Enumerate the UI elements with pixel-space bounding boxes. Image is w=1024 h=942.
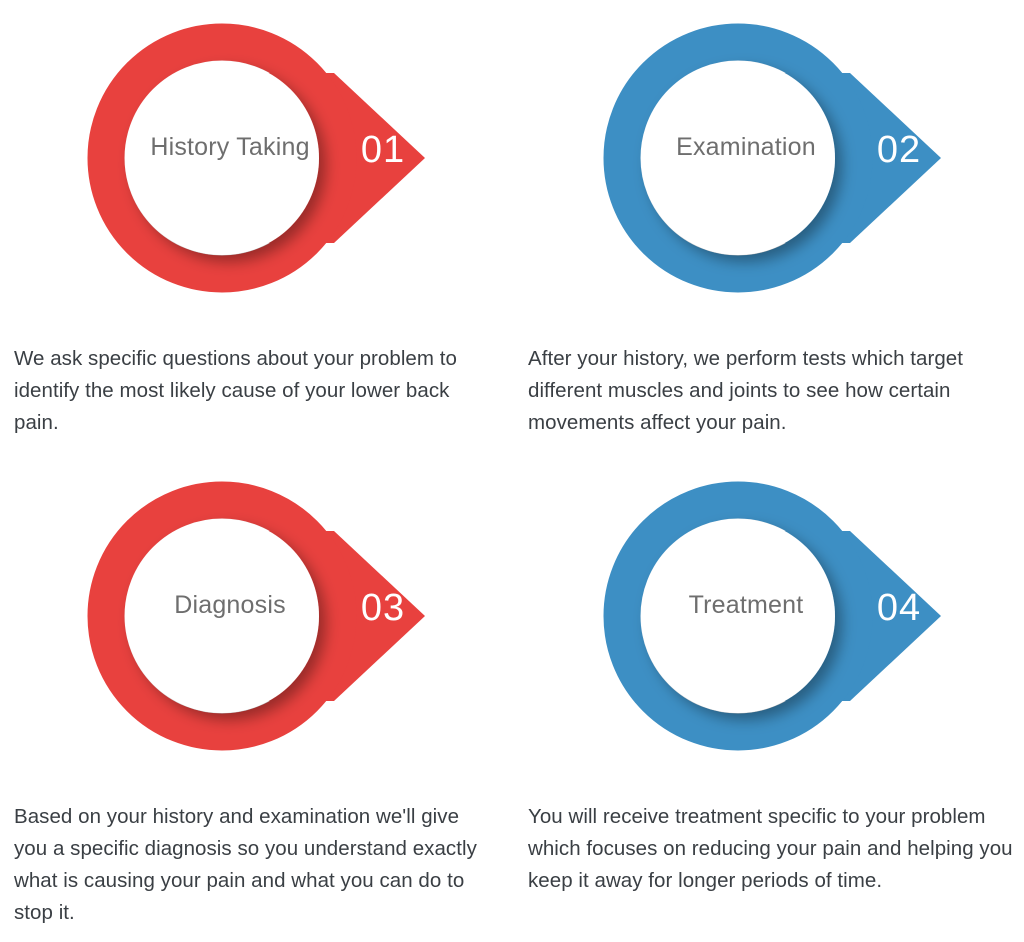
step-description: We ask specific questions about your pro… [14, 343, 496, 439]
inner-disc [125, 61, 319, 255]
step-badge-1: History Taking 01 [78, 14, 438, 306]
inner-disc [641, 519, 835, 713]
step-card-1: History Taking 01 We ask specific questi… [0, 0, 512, 460]
step-badge-3: Diagnosis 03 [78, 472, 438, 764]
step-card-4: Treatment 04 You will receive treatment … [512, 460, 1024, 942]
step-card-2: Examination 02 After your history, we pe… [512, 0, 1024, 460]
inner-disc [125, 519, 319, 713]
step-badge-2: Examination 02 [594, 14, 954, 306]
step-description: After your history, we perform tests whi… [528, 343, 1020, 439]
inner-disc [641, 61, 835, 255]
process-infographic: History Taking 01 We ask specific questi… [0, 0, 1024, 942]
steps-grid: History Taking 01 We ask specific questi… [0, 0, 1024, 942]
step-badge-4: Treatment 04 [594, 472, 954, 764]
step-card-3: Diagnosis 03 Based on your history and e… [0, 460, 512, 942]
step-description: Based on your history and examination we… [14, 801, 496, 929]
step-description: You will receive treatment specific to y… [528, 801, 1020, 897]
